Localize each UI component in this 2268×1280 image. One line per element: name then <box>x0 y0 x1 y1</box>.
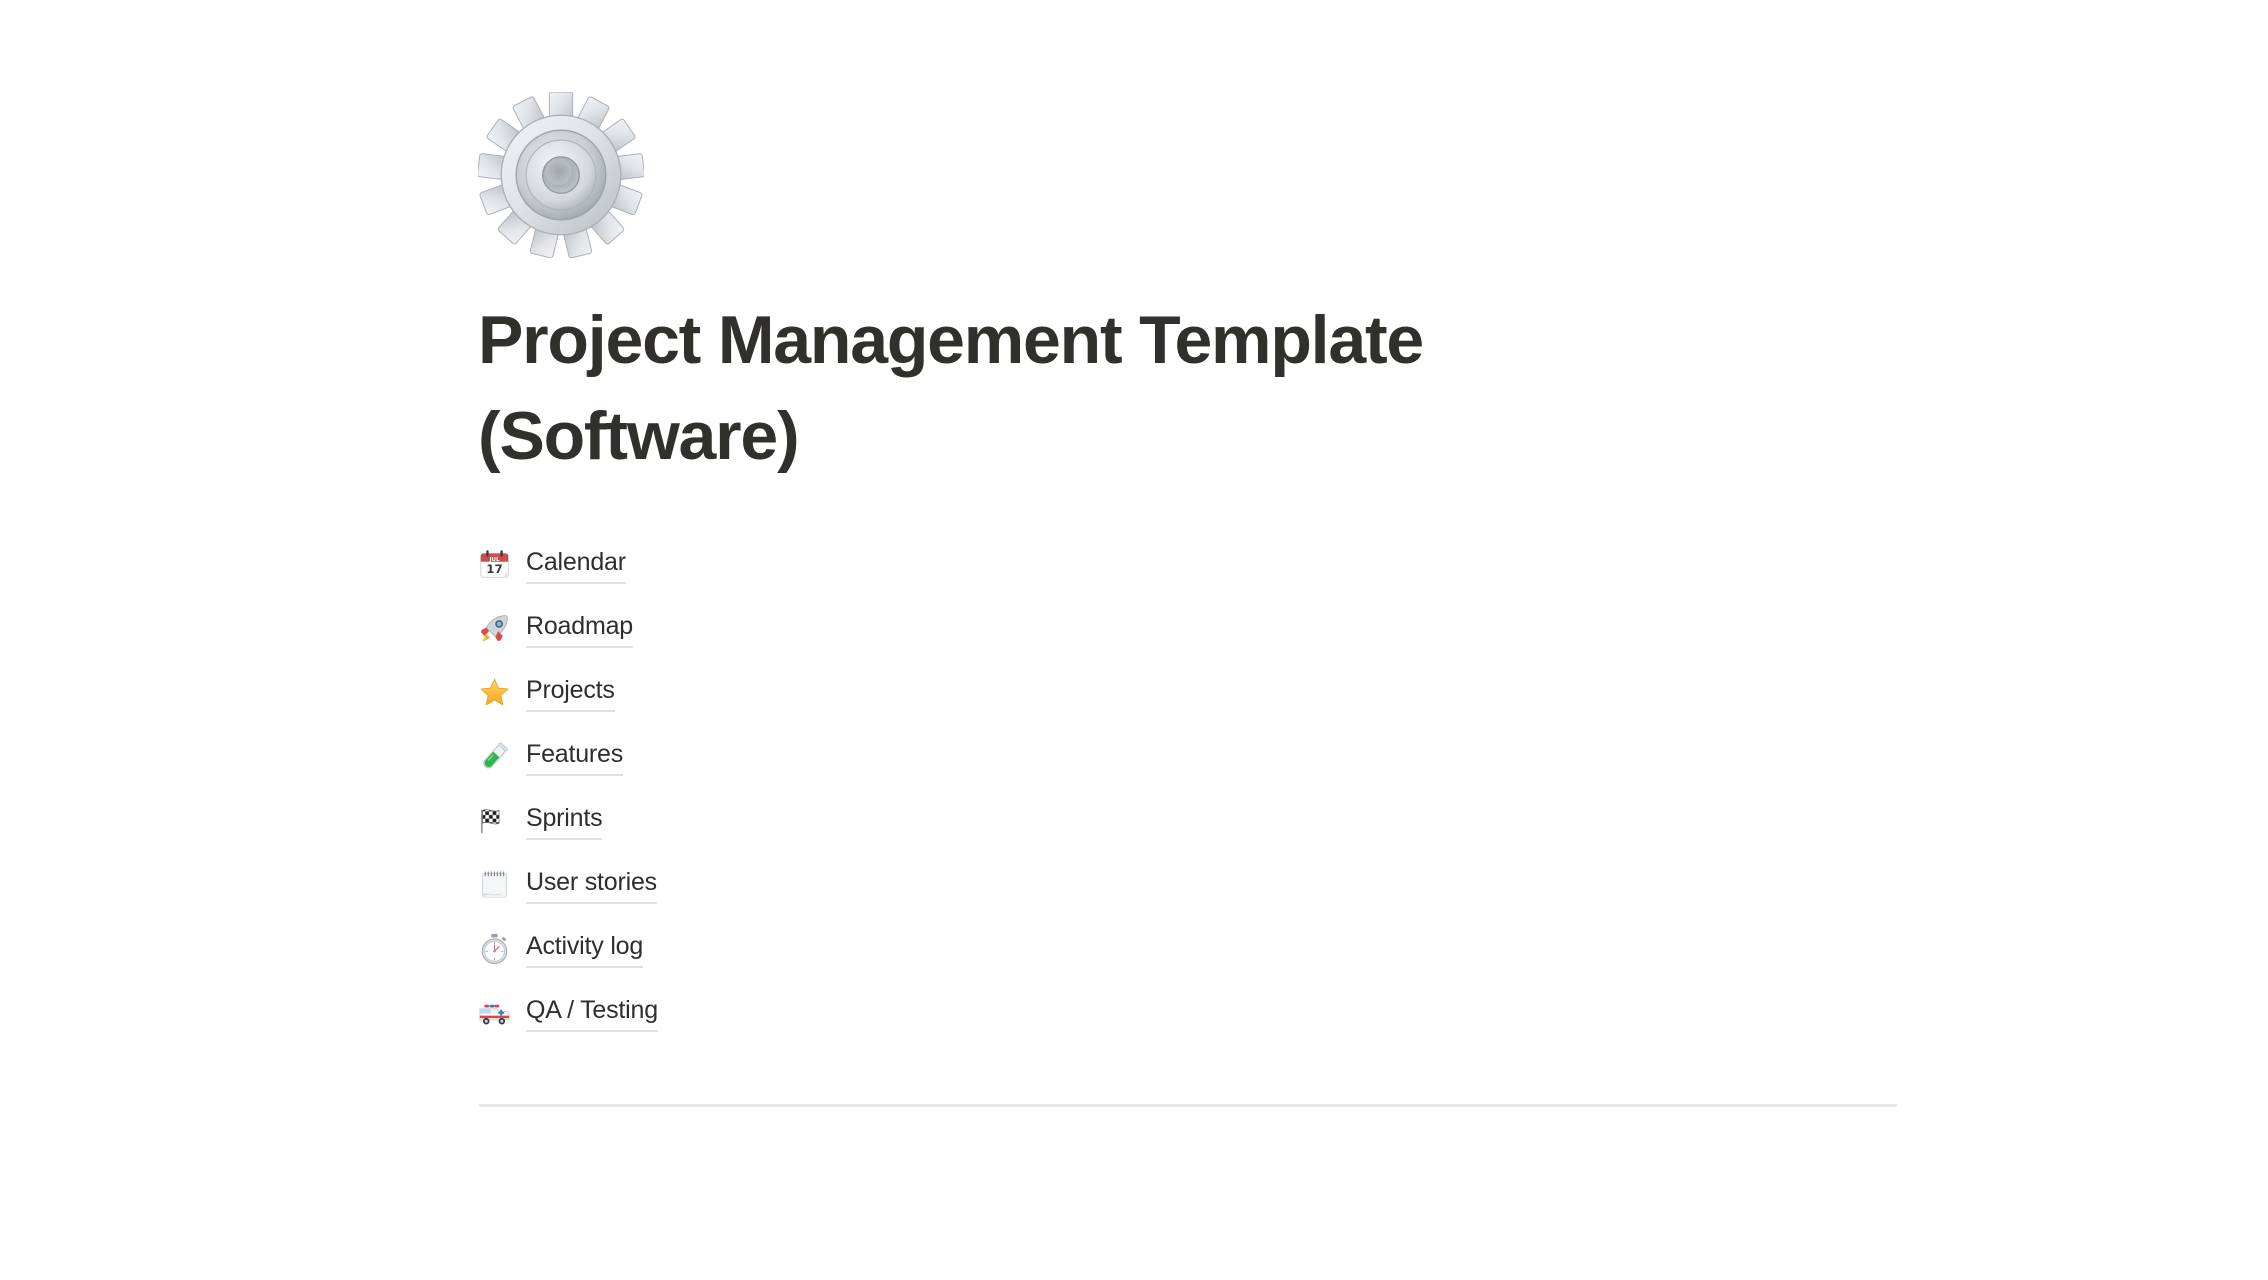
list-item-label[interactable]: Calendar <box>526 545 626 584</box>
calendar-emoji: JUL 17 <box>478 544 526 584</box>
list-item[interactable]: Sprints <box>478 788 1898 852</box>
list-item[interactable]: Features <box>478 724 1898 788</box>
page-link-list: JUL 17 Calendar <box>478 484 1898 1044</box>
list-item[interactable]: User stories <box>478 852 1898 916</box>
star-emoji <box>478 672 526 712</box>
page-content: Project Management Template (Software) J… <box>478 0 1898 1115</box>
stopwatch-emoji <box>478 928 526 968</box>
list-item[interactable]: Roadmap <box>478 596 1898 660</box>
rocket-emoji <box>478 608 526 648</box>
gear-icon[interactable] <box>478 92 644 258</box>
list-item[interactable]: Activity log <box>478 916 1898 980</box>
list-item-label[interactable]: Activity log <box>526 929 643 968</box>
list-item[interactable]: JUL 17 Calendar <box>478 532 1898 596</box>
list-item-label[interactable]: QA / Testing <box>526 993 658 1032</box>
list-item-label[interactable]: Projects <box>526 673 615 712</box>
list-item-label[interactable]: User stories <box>526 865 657 904</box>
page-root: Project Management Template (Software) J… <box>0 0 2268 1280</box>
section-divider <box>479 1104 1897 1107</box>
list-item-label[interactable]: Roadmap <box>526 609 633 648</box>
test-tube-emoji <box>478 736 526 776</box>
spiral-notepad-emoji <box>478 864 526 904</box>
page-title[interactable]: Project Management Template (Software) <box>478 258 1658 484</box>
list-item[interactable]: QA / Testing <box>478 980 1898 1044</box>
svg-text:17: 17 <box>486 562 503 576</box>
list-item-label[interactable]: Features <box>526 737 623 776</box>
checkered-flag-emoji <box>478 800 526 840</box>
list-item-label[interactable]: Sprints <box>526 801 602 840</box>
list-item[interactable]: Projects <box>478 660 1898 724</box>
ambulance-emoji <box>478 992 526 1032</box>
